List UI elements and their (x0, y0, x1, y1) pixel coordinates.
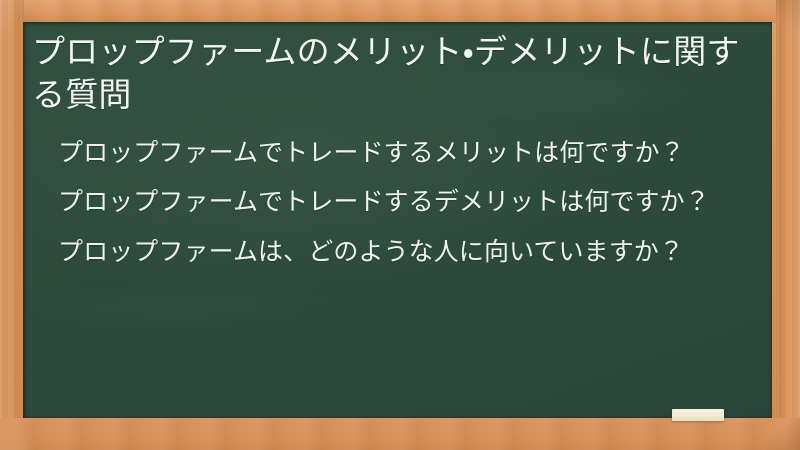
frame-left-rail (0, 0, 24, 450)
list-item: プロップファームは、どのような人に向いていますか？ (58, 236, 754, 269)
frame-bottom-ledge (0, 418, 800, 450)
frame-top-rail (0, 0, 800, 23)
question-list: プロップファームでトレードするメリットは何ですか？ プロップファームでトレードす… (32, 137, 754, 269)
chalkboard-surface: プロップファームのメリット・デメリットに関する質問 プロップファームでトレードす… (23, 22, 772, 418)
list-item: プロップファームでトレードするデメリットは何ですか？ (58, 186, 754, 219)
chalk-stick-icon (672, 409, 724, 421)
frame-right-rail (776, 0, 800, 450)
chalkboard-content: プロップファームのメリット・デメリットに関する質問 プロップファームでトレードす… (23, 22, 772, 268)
blackboard-slide: プロップファームのメリット・デメリットに関する質問 プロップファームでトレードす… (0, 0, 800, 450)
list-item: プロップファームでトレードするメリットは何ですか？ (58, 137, 754, 170)
page-title: プロップファームのメリット・デメリットに関する質問 (32, 31, 754, 117)
